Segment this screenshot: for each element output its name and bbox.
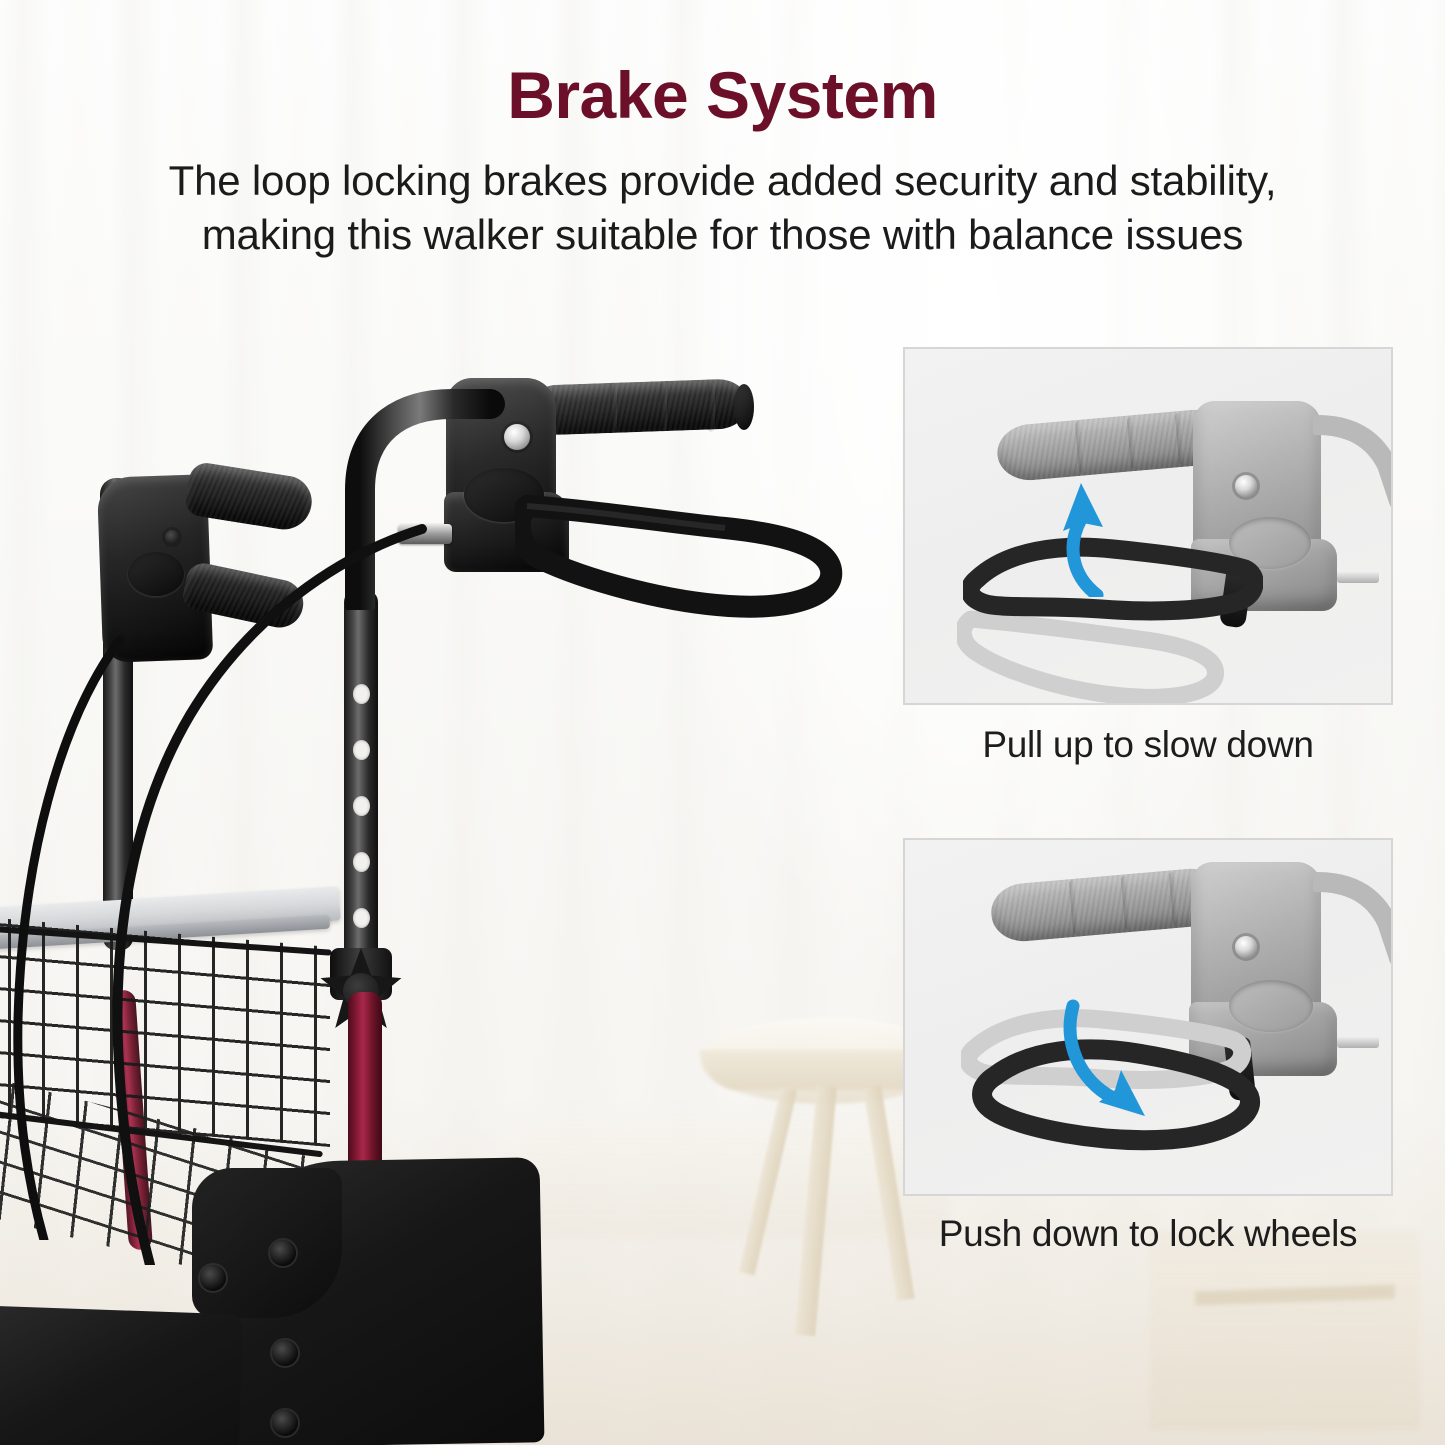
cable-end-icon xyxy=(1337,571,1379,583)
frame-tube-icon xyxy=(1313,409,1393,519)
inset-panel-push-down xyxy=(903,838,1393,1196)
housing-screw xyxy=(1235,475,1257,497)
grip xyxy=(989,866,1225,944)
brake-cable-front xyxy=(70,505,450,1265)
frame-tube-icon xyxy=(1313,866,1393,976)
housing-screw xyxy=(1235,936,1257,958)
page-subtitle: The loop locking brakes provide added se… xyxy=(63,128,1383,262)
product-photo-rollator-walker xyxy=(0,300,880,1445)
brake-diagram-push-down xyxy=(905,840,1391,1194)
seat-snap xyxy=(272,1410,298,1436)
brake-diagram-pull-up xyxy=(905,349,1391,703)
arrow-up-icon xyxy=(1053,479,1133,597)
page-title: Brake System xyxy=(0,0,1445,128)
cable-end-icon xyxy=(1337,1036,1379,1048)
front-grip xyxy=(527,378,749,436)
grip-ring xyxy=(610,382,617,432)
arrow-down-icon xyxy=(1057,998,1153,1120)
seat-side-panel xyxy=(0,1306,243,1445)
header: Brake System The loop locking brakes pro… xyxy=(0,0,1445,262)
grip-ring xyxy=(708,382,715,432)
caption-push-down: Push down to lock wheels xyxy=(895,1213,1401,1255)
front-loop-lever xyxy=(515,484,845,624)
inset-panel-pull-up xyxy=(903,347,1393,705)
subtitle-line-2: making this walker suitable for those wi… xyxy=(63,208,1383,262)
subtitle-line-1: The loop locking brakes provide added se… xyxy=(63,154,1383,208)
chair-blur xyxy=(1150,1230,1420,1430)
seat-snap xyxy=(272,1340,298,1366)
caption-pull-up: Pull up to slow down xyxy=(903,724,1393,766)
infographic-page: Brake System The loop locking brakes pro… xyxy=(0,0,1445,1445)
seat-snap xyxy=(200,1265,226,1291)
grip-ring xyxy=(660,382,667,432)
grip-end-cap xyxy=(734,384,754,430)
